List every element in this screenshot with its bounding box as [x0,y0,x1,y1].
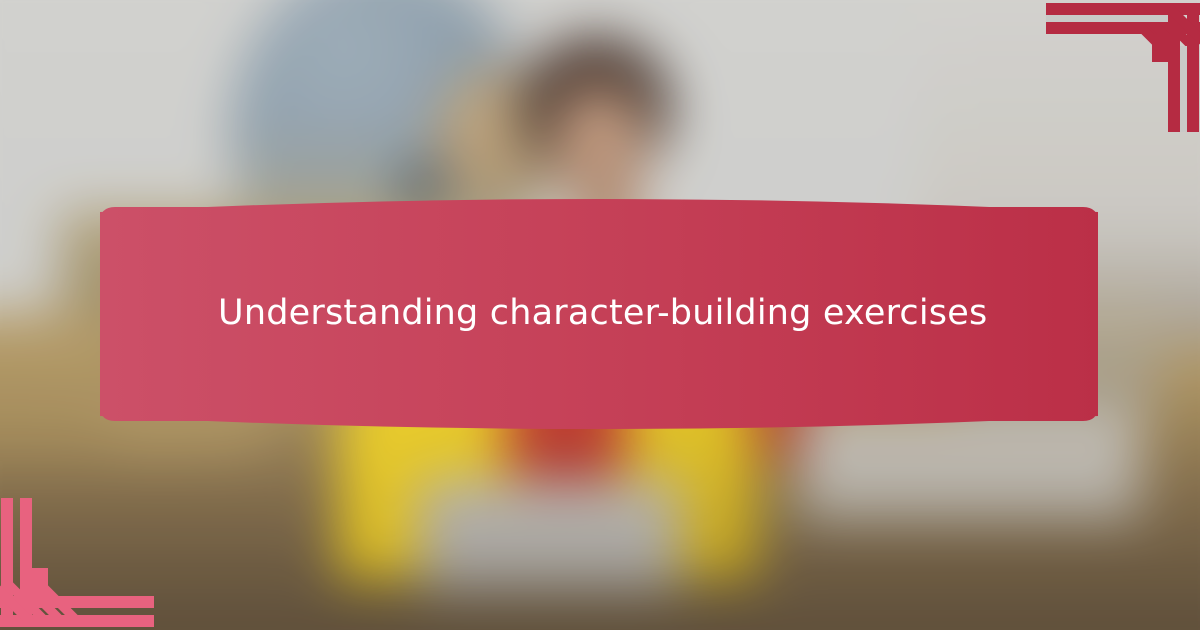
social-share-card: Understanding character-building exercis… [0,0,1200,630]
corner-stripes-top-right [1040,0,1200,132]
corner-stripes-bottom-left [0,498,160,630]
title-banner: Understanding character-building exercis… [98,190,1100,438]
page-title: Understanding character-building exercis… [218,190,1004,438]
